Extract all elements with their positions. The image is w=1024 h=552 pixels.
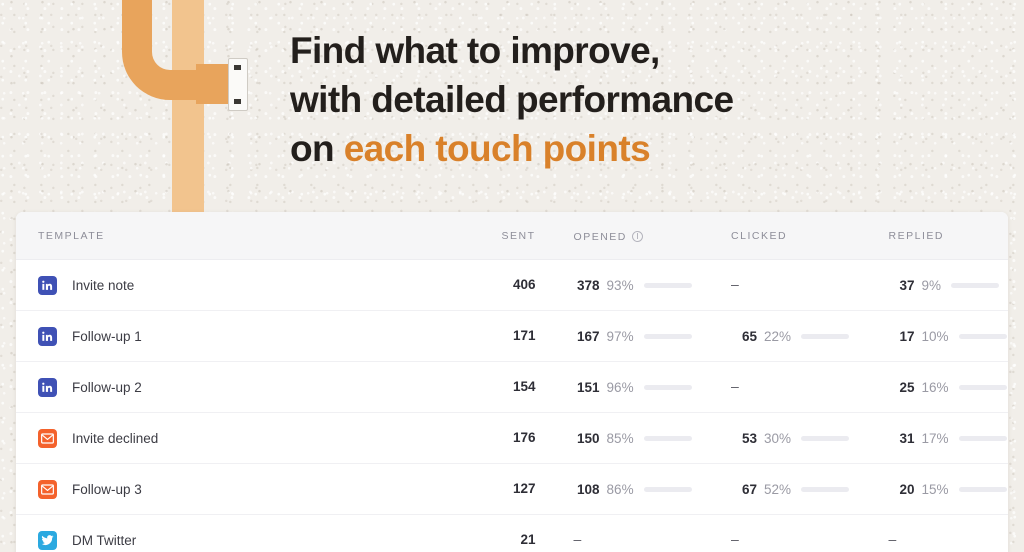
cell-opened: 16797%: [536, 329, 693, 344]
cell-clicked-empty: –: [731, 378, 739, 394]
column-header-replied: REPLIED: [851, 230, 1008, 242]
cell-clicked: –: [693, 276, 850, 294]
cell-replied-bar: [959, 334, 1007, 339]
cell-replied-percent: 17%: [922, 431, 949, 446]
cell-clicked: 6522%: [693, 329, 850, 344]
cell-replied-value: 31: [889, 431, 915, 446]
cell-replied-percent: 16%: [922, 380, 949, 395]
column-header-opened: OPENED: [536, 229, 693, 243]
table-row[interactable]: Invite note40637893%–379%: [16, 260, 1008, 311]
table-row[interactable]: Follow-up 215415196%–2516%: [16, 362, 1008, 413]
cell-replied: 2516%: [851, 380, 1008, 395]
table-row[interactable]: DM Twitter21–––: [16, 515, 1008, 552]
cell-sent: 21: [457, 531, 535, 549]
cell-clicked-empty: –: [731, 531, 739, 547]
cell-template: Invite declined: [16, 429, 457, 448]
cell-opened-value: 150: [574, 431, 600, 446]
cell-replied-value: 20: [889, 482, 915, 497]
cell-opened: 15085%: [536, 431, 693, 446]
column-header-opened-label: OPENED: [574, 231, 627, 243]
column-header-clicked: CLICKED: [693, 230, 850, 242]
cell-clicked-percent: 22%: [764, 329, 791, 344]
sent-value: 176: [513, 430, 536, 445]
cell-clicked-empty: –: [731, 276, 739, 292]
cell-template: DM Twitter: [16, 531, 457, 550]
sent-value: 406: [513, 277, 536, 292]
cell-replied-empty: –: [889, 531, 897, 547]
cell-template: Invite note: [16, 276, 457, 295]
sent-value: 21: [521, 532, 536, 547]
cell-clicked-value: 65: [731, 329, 757, 344]
cell-opened-value: 108: [574, 482, 600, 497]
template-name: DM Twitter: [72, 533, 136, 548]
cell-sent: 406: [457, 276, 535, 294]
cell-clicked: –: [693, 378, 850, 396]
cell-template: Follow-up 1: [16, 327, 457, 346]
twitter-icon: [38, 531, 57, 550]
cell-clicked-bar: [801, 334, 849, 339]
table-header-row: TEMPLATE SENT OPENED CLICKED REPLIED: [16, 212, 1008, 260]
template-name: Follow-up 3: [72, 482, 142, 497]
template-name: Invite declined: [72, 431, 158, 446]
cell-replied: 1710%: [851, 329, 1008, 344]
template-name: Invite note: [72, 278, 134, 293]
headline-line-1: Find what to improve,: [290, 30, 660, 71]
cell-replied: –: [851, 531, 1008, 549]
cell-replied-percent: 15%: [922, 482, 949, 497]
sent-value: 127: [513, 481, 536, 496]
cell-clicked-bar: [801, 487, 849, 492]
template-name: Follow-up 2: [72, 380, 142, 395]
column-header-sent: SENT: [457, 230, 535, 242]
cell-template: Follow-up 3: [16, 480, 457, 499]
cell-replied-bar: [959, 385, 1007, 390]
cell-opened-percent: 85%: [607, 431, 634, 446]
linkedin-icon: [38, 276, 57, 295]
cell-replied: 379%: [851, 278, 1008, 293]
email-icon: [38, 480, 57, 499]
deco-dot-top: [234, 65, 241, 70]
table-row[interactable]: Follow-up 312710886%6752%2015%: [16, 464, 1008, 515]
linkedin-icon: [38, 327, 57, 346]
cell-clicked-percent: 52%: [764, 482, 791, 497]
cell-replied-percent: 10%: [922, 329, 949, 344]
cell-opened-value: 167: [574, 329, 600, 344]
table-body: Invite note40637893%–379%Follow-up 11711…: [16, 260, 1008, 552]
headline-line-3-accent: each touch points: [344, 128, 650, 169]
cell-replied-value: 37: [889, 278, 915, 293]
cell-opened: –: [536, 531, 693, 549]
cell-clicked-value: 53: [731, 431, 757, 446]
headline-line-2: with detailed performance: [290, 79, 734, 120]
cell-clicked-percent: 30%: [764, 431, 791, 446]
table-row[interactable]: Invite declined17615085%5330%3117%: [16, 413, 1008, 464]
cell-replied-percent: 9%: [922, 278, 942, 293]
cell-clicked: 6752%: [693, 482, 850, 497]
cell-opened: 15196%: [536, 380, 693, 395]
cell-replied: 2015%: [851, 482, 1008, 497]
column-header-template: TEMPLATE: [16, 230, 457, 242]
cell-opened-value: 378: [574, 278, 600, 293]
linkedin-icon: [38, 378, 57, 397]
cell-replied: 3117%: [851, 431, 1008, 446]
cell-clicked: 5330%: [693, 431, 850, 446]
cell-opened-bar: [644, 283, 692, 288]
sent-value: 154: [513, 379, 536, 394]
sent-value: 171: [513, 328, 536, 343]
cell-sent: 127: [457, 480, 535, 498]
cell-sent: 176: [457, 429, 535, 447]
cell-template: Follow-up 2: [16, 378, 457, 397]
cell-opened-percent: 97%: [607, 329, 634, 344]
cell-opened-percent: 93%: [607, 278, 634, 293]
cell-opened-bar: [644, 436, 692, 441]
cell-opened-percent: 96%: [607, 380, 634, 395]
cell-replied-value: 17: [889, 329, 915, 344]
cell-opened-value: 151: [574, 380, 600, 395]
cell-opened-bar: [644, 487, 692, 492]
headline-line-3-prefix: on: [290, 128, 344, 169]
cell-sent: 154: [457, 378, 535, 396]
cell-replied-value: 25: [889, 380, 915, 395]
cell-clicked-value: 67: [731, 482, 757, 497]
cell-sent: 171: [457, 327, 535, 345]
deco-dot-bottom: [234, 99, 241, 104]
cell-clicked-bar: [801, 436, 849, 441]
template-name: Follow-up 1: [72, 329, 142, 344]
cell-opened-empty: –: [574, 531, 582, 547]
cell-clicked: –: [693, 531, 850, 549]
cell-replied-bar: [959, 436, 1007, 441]
deco-hook-shape: [122, 0, 204, 100]
cell-opened-bar: [644, 334, 692, 339]
cell-opened: 10886%: [536, 482, 693, 497]
performance-table-card: TEMPLATE SENT OPENED CLICKED REPLIED Inv…: [16, 212, 1008, 552]
email-icon: [38, 429, 57, 448]
deco-card-shape: [228, 58, 248, 111]
cell-opened: 37893%: [536, 278, 693, 293]
decorative-graphic: [0, 0, 300, 230]
table-row[interactable]: Follow-up 117116797%6522%1710%: [16, 311, 1008, 362]
cell-opened-bar: [644, 385, 692, 390]
cell-opened-percent: 86%: [607, 482, 634, 497]
page-headline: Find what to improve, with detailed perf…: [290, 26, 734, 173]
info-icon[interactable]: [632, 231, 643, 242]
cell-replied-bar: [951, 283, 999, 288]
cell-replied-bar: [959, 487, 1007, 492]
